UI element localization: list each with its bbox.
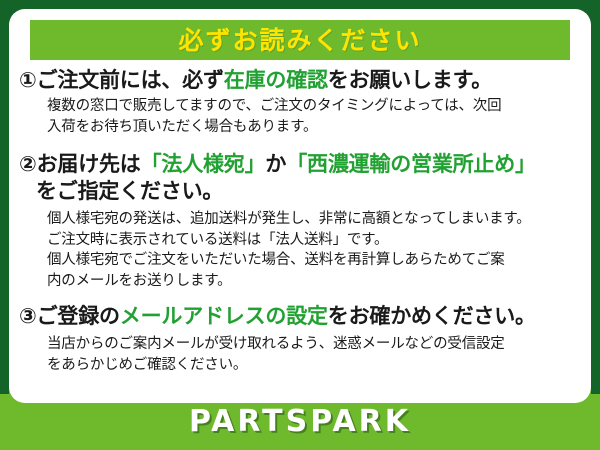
notice-item-2: ②お届け先は「法人様宛」か「西濃運輸の営業所止め」 をご指定ください。 個人様宅… — [19, 151, 579, 292]
notice-item-3-subtext: 当店からのご案内メールが受け取れるよう、迷惑メールなどの受信設定をあらかじめご確… — [19, 334, 579, 376]
notice-item-3-heading-part-1: ご登録の — [37, 304, 120, 328]
notice-item-1: ①ご注文前には、必ず在庫の確認をお願いします。 複数の窓口で販売してますので、ご… — [19, 67, 579, 138]
brand-logo-text: PARTSPARK — [189, 407, 411, 437]
footer: PARTSPARK — [0, 394, 600, 450]
header-band: 必ずお読みください — [30, 20, 570, 60]
notice-item-2-subline-1: 個人様宅宛の発送は、追加送料が発生し、非常に高額となってしまいます。 — [47, 209, 579, 230]
notice-item-1-heading-highlight: 在庫の確認 — [224, 68, 328, 92]
notice-item-3-heading-highlight: メールアドレスの設定 — [120, 304, 328, 328]
notice-item-1-subline-1: 複数の窓口で販売してますので、ご注文のタイミングによっては、次回 — [47, 96, 579, 117]
notice-item-2-heading-highlight-1: 「法人様宛」 — [141, 152, 266, 176]
frame-right-border — [591, 0, 600, 394]
notice-item-2-heading-line2: をご指定ください。 — [19, 178, 579, 205]
notice-item-1-heading-part-3: をお願いします。 — [328, 68, 492, 92]
frame-left-border — [0, 0, 9, 394]
notice-item-2-subline-2: ご注文時に表示されている送料は「法人送料」です。 — [47, 230, 579, 251]
notice-item-3-marker: ③ — [19, 304, 37, 328]
notice-poster: 必ずお読みください ①ご注文前には、必ず在庫の確認をお願いします。 複数の窓口で… — [0, 0, 600, 450]
notice-item-3-subline-1: 当店からのご案内メールが受け取れるよう、迷惑メールなどの受信設定 — [47, 334, 579, 355]
notice-item-2-heading-highlight-2: 「西濃運輸の営業所止め」 — [286, 152, 536, 176]
notice-item-3-subline-2: をあらかじめご確認ください。 — [47, 355, 579, 376]
notice-card: 必ずお読みください ①ご注文前には、必ず在庫の確認をお願いします。 複数の窓口で… — [9, 9, 591, 403]
notice-body: ①ご注文前には、必ず在庫の確認をお願いします。 複数の窓口で販売してますので、ご… — [9, 67, 591, 379]
notice-item-3: ③ご登録のメールアドレスの設定をお確かめください。 当店からのご案内メールが受け… — [19, 303, 579, 376]
notice-item-1-subline-2: 入荷をお待ち頂いただく場合もあります。 — [47, 117, 579, 138]
notice-item-2-heading-part-1: お届け先は — [37, 152, 141, 176]
notice-item-2-heading-part-3: か — [265, 152, 286, 176]
notice-item-2-heading-line2-text: をご指定ください。 — [19, 178, 223, 205]
notice-item-2-heading: ②お届け先は「法人様宛」か「西濃運輸の営業所止め」 — [19, 151, 579, 178]
page-title: 必ずお読みください — [178, 28, 421, 53]
notice-item-1-subtext: 複数の窓口で販売してますので、ご注文のタイミングによっては、次回入荷をお待ち頂い… — [19, 96, 579, 138]
notice-item-2-subtext: 個人様宅宛の発送は、追加送料が発生し、非常に高額となってしまいます。ご注文時に表… — [19, 209, 579, 293]
notice-item-3-heading: ③ご登録のメールアドレスの設定をお確かめください。 — [19, 303, 579, 330]
notice-item-1-heading-part-1: ご注文前には、必ず — [37, 68, 224, 92]
notice-item-2-subline-4: 内のメールをお送りします。 — [47, 271, 579, 292]
notice-item-1-heading: ①ご注文前には、必ず在庫の確認をお願いします。 — [19, 67, 579, 94]
notice-item-2-marker: ② — [19, 152, 37, 176]
notice-item-1-marker: ① — [19, 68, 37, 92]
notice-item-3-heading-part-3: をお確かめください。 — [328, 304, 536, 328]
frame-top-border — [0, 0, 600, 9]
notice-item-2-subline-3: 個人様宅宛でご注文をいただいた場合、送料を再計算しあらためてご案 — [47, 250, 579, 271]
